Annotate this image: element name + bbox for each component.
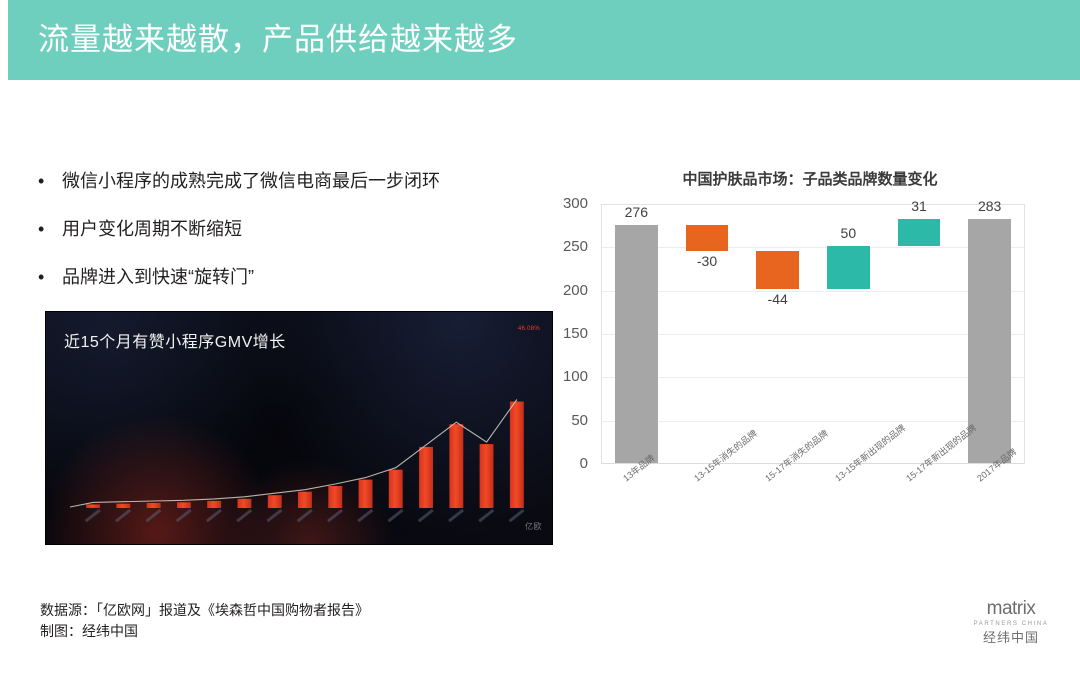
y-axis-tick: 50 [528, 412, 588, 429]
gridline [601, 377, 1025, 378]
brand-name-cn: 经纬中国 [956, 629, 1066, 646]
chart-bar [898, 219, 940, 246]
chart-bar [686, 225, 728, 251]
chart-bar [827, 246, 869, 289]
gmv-bar [86, 504, 100, 508]
bar-value-label: 50 [841, 225, 857, 241]
page-title: 流量越来越散，产品供给越来越多 [38, 20, 518, 60]
gmv-x-tick [509, 509, 525, 522]
list-item-label: 品牌进入到快速“旋转门” [62, 264, 558, 290]
gmv-x-tick [357, 509, 373, 522]
gridline [601, 334, 1025, 335]
bullet-dot-icon: • [38, 168, 62, 194]
header-banner: 流量越来越散，产品供给越来越多 [8, 0, 1080, 80]
gmv-x-tick [327, 509, 343, 522]
gmv-bar [510, 402, 524, 509]
gmv-x-tick [418, 509, 434, 522]
gmv-bar [389, 470, 403, 508]
list-item-label: 用户变化周期不断缩短 [62, 216, 558, 242]
gmv-x-tick [478, 509, 494, 522]
list-item: • 用户变化周期不断缩短 [38, 216, 558, 242]
gmv-x-tick [176, 509, 192, 522]
gridline [601, 247, 1025, 248]
y-axis-tick: 0 [528, 455, 588, 472]
y-axis-tick: 100 [528, 368, 588, 385]
chart-title: 中国护肤品市场：子品类品牌数量变化 [560, 168, 1060, 189]
gmv-bar [207, 501, 221, 508]
gmv-bar [419, 447, 433, 508]
source-line-2: 制图：经纬中国 [40, 621, 369, 642]
bullet-list: • 微信小程序的成熟完成了微信电商最后一步闭环 • 用户变化周期不断缩短 • 品… [38, 168, 558, 312]
gmv-x-tick [266, 509, 282, 522]
list-item-label: 微信小程序的成熟完成了微信电商最后一步闭环 [62, 168, 558, 194]
gridline [601, 421, 1025, 422]
gmv-bar [480, 444, 494, 508]
gmv-x-tick [206, 509, 222, 522]
gmv-bar [328, 486, 342, 508]
list-item: • 品牌进入到快速“旋转门” [38, 264, 558, 290]
gmv-bar [298, 492, 312, 508]
slide: 流量越来越散，产品供给越来越多 • 微信小程序的成熟完成了微信电商最后一步闭环 … [0, 0, 1080, 675]
chart-bar [756, 251, 798, 289]
bar-value-label: 276 [625, 204, 648, 220]
gmv-title: 近15个月有赞小程序GMV增长 [64, 328, 286, 352]
bar-value-label: -44 [768, 291, 788, 307]
gmv-bar [238, 499, 252, 508]
gmv-bar [268, 495, 282, 508]
gmv-watermark: 亿欧 [525, 521, 542, 532]
list-item: • 微信小程序的成熟完成了微信电商最后一步闭环 [38, 168, 558, 194]
gmv-x-tick [236, 509, 252, 522]
gridline [601, 291, 1025, 292]
y-axis-tick: 250 [528, 238, 588, 255]
gmv-bar [177, 502, 191, 508]
gmv-x-tick [387, 509, 403, 522]
y-axis-tick: 150 [528, 325, 588, 342]
brand-tagline: PARTNERS CHINA [956, 619, 1066, 629]
gmv-bar [147, 503, 161, 508]
gmv-bar [359, 480, 373, 508]
gmv-x-tick [85, 509, 101, 522]
waterfall-chart: 中国护肤品市场：子品类品牌数量变化 300250200150100500 276… [560, 160, 1060, 560]
brand-name: matrix [956, 598, 1066, 619]
gmv-bar [449, 424, 463, 508]
bullet-dot-icon: • [38, 264, 62, 290]
y-axis-tick: 300 [528, 195, 588, 212]
matrix-logo: matrix PARTNERS CHINA 经纬中国 [956, 598, 1066, 646]
source-note: 数据源：「亿欧网」报道及《埃森哲中国购物者报告》 制图：经纬中国 [40, 600, 369, 642]
gmv-x-tick [115, 509, 131, 522]
gmv-bar [116, 504, 130, 508]
bar-value-label: -30 [697, 253, 717, 269]
chart-plot-area [601, 204, 1025, 464]
bar-value-label: 283 [978, 198, 1001, 214]
gmv-x-tick [297, 509, 313, 522]
chart-bar [615, 225, 657, 464]
gmv-growth-image: 近15个月有赞小程序GMV增长 46.08% 亿欧 [46, 312, 552, 544]
bar-value-label: 31 [911, 198, 927, 214]
source-line-1: 数据源：「亿欧网」报道及《埃森哲中国购物者报告》 [40, 600, 369, 621]
y-axis-tick: 200 [528, 282, 588, 299]
gmv-x-tick [448, 509, 464, 522]
bullet-dot-icon: • [38, 216, 62, 242]
gmv-x-tick [145, 509, 161, 522]
